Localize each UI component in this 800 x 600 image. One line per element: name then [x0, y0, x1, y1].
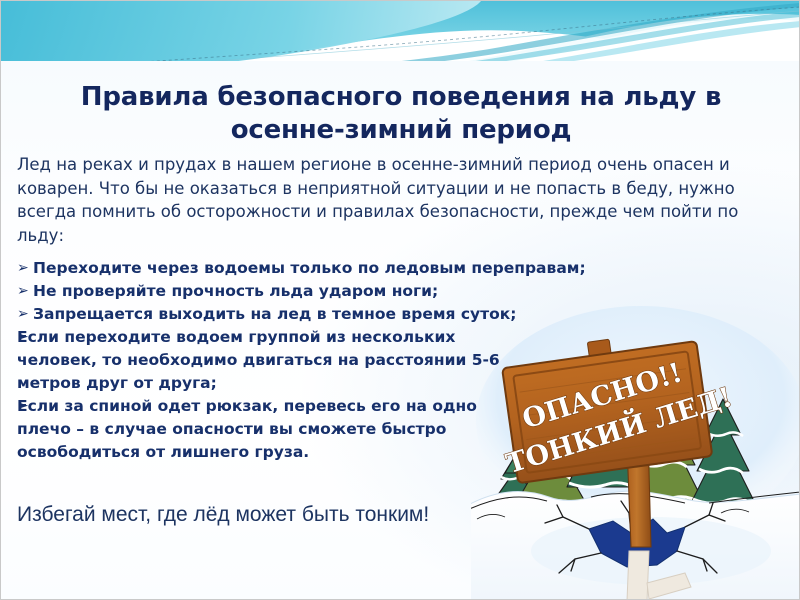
list-item-label: Переходите через водоемы только по ледов…: [33, 259, 586, 277]
intro-paragraph: Лед на реках и прудах в нашем регионе в …: [17, 153, 789, 247]
list-item-label: Не проверяйте прочность льда ударом ноги…: [33, 282, 438, 300]
list-item: ➢ Если переходите водоем группой из неск…: [17, 326, 517, 395]
presentation-slide: ОПАСНО!! ТОНКИЙ ЛЕД! Правила безопасного…: [0, 0, 800, 600]
list-item: ➢ Если за спиной одет рюкзак, перевесь е…: [17, 395, 517, 464]
closing-statement: Избегай мест, где лёд может быть тонким!: [17, 501, 617, 529]
bullet-arrow-icon: ➢: [17, 326, 29, 349]
bullet-arrow-icon: ➢: [17, 395, 29, 418]
list-item: ➢ Не проверяйте прочность льда ударом но…: [17, 280, 637, 303]
list-item: ➢ Запрещается выходить на лед в темное в…: [17, 303, 637, 326]
bullet-arrow-icon: ➢: [17, 257, 29, 280]
list-item-label: Если переходите водоем группой из нескол…: [1, 326, 517, 395]
slide-text-content: Правила безопасного поведения на льду в …: [1, 1, 800, 600]
bullet-arrow-icon: ➢: [17, 303, 29, 326]
list-item: ➢ Переходите через водоемы только по лед…: [17, 257, 637, 280]
safety-rules-list: ➢ Переходите через водоемы только по лед…: [17, 257, 637, 464]
page-title: Правила безопасного поведения на льду в …: [25, 81, 777, 147]
list-item-label: Запрещается выходить на лед в темное вре…: [33, 305, 517, 323]
bullet-arrow-icon: ➢: [17, 280, 29, 303]
list-item-label: Если за спиной одет рюкзак, перевесь его…: [1, 395, 517, 464]
